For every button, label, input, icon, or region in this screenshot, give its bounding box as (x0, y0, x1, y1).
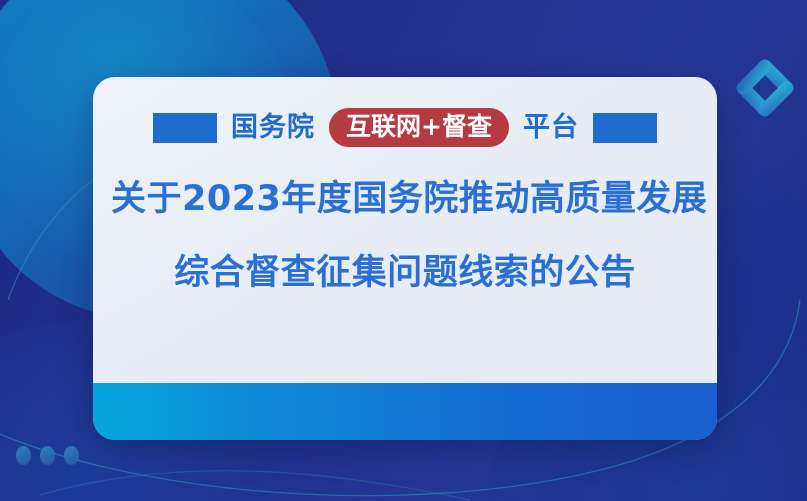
brand-header-row: 国务院 互联网+督查 平台 (93, 108, 717, 147)
decorative-dot (16, 446, 31, 465)
announcement-card-body: 国务院 互联网+督查 平台 关于2023年度国务院推动高质量发展 综合督查征集问… (93, 77, 717, 383)
platform-diamond-logo (735, 56, 795, 120)
announcement-card: 国务院 互联网+督查 平台 关于2023年度国务院推动高质量发展 综合督查征集问… (93, 77, 717, 440)
brand-label-government: 国务院 (231, 114, 315, 141)
decorative-dots (16, 446, 79, 465)
announcement-title-line-1: 关于2023年度国务院推动高质量发展 (111, 182, 699, 217)
brand-block-right (593, 113, 657, 143)
announcement-title-line-2: 综合督查征集问题线索的公告 (111, 256, 699, 291)
poster-canvas: 国务院 互联网+督查 平台 关于2023年度国务院推动高质量发展 综合督查征集问… (0, 0, 807, 501)
decorative-dot (40, 446, 55, 465)
brand-label-platform: 平台 (523, 114, 579, 141)
brand-block-left (153, 113, 217, 143)
decorative-dot (64, 446, 79, 465)
brand-pill-internet-supervision: 互联网+督查 (329, 108, 509, 147)
card-footer-gradient-bar (93, 383, 717, 440)
announcement-title: 关于2023年度国务院推动高质量发展 综合督查征集问题线索的公告 (111, 182, 699, 291)
